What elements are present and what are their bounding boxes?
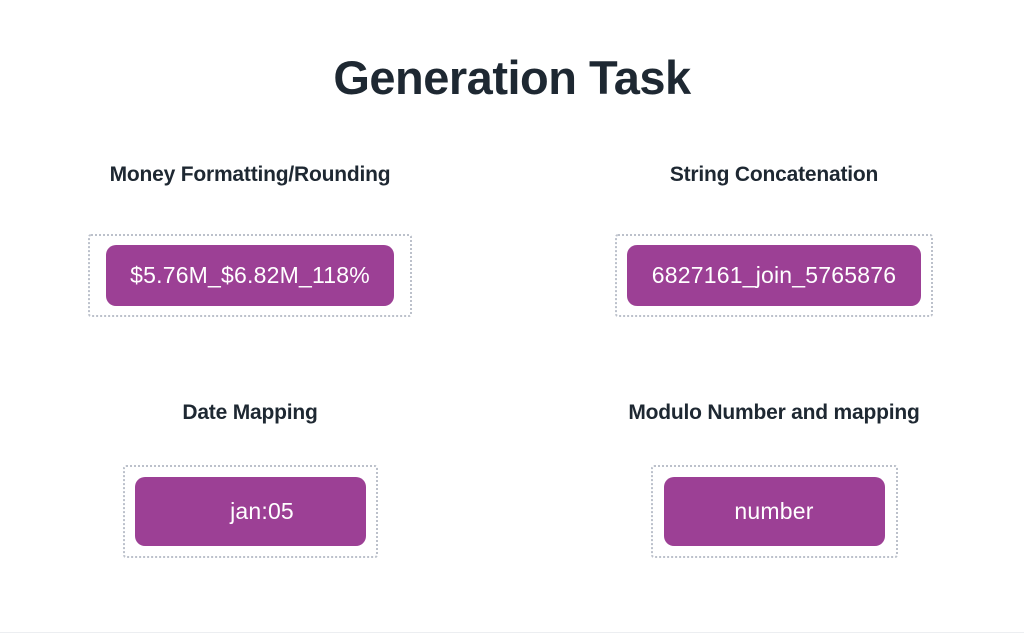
task-dropzone[interactable]: number xyxy=(651,465,898,558)
task-title: Date Mapping xyxy=(0,400,500,425)
task-title: Modulo Number and mapping xyxy=(524,400,1024,425)
task-title: String Concatenation xyxy=(524,162,1024,187)
task-dropzone[interactable]: 6827161_join_5765876 xyxy=(615,234,933,317)
task-value-pill[interactable]: number xyxy=(664,477,885,546)
generation-task-page: Generation Task Money Formatting/Roundin… xyxy=(0,0,1024,633)
task-grid: Money Formatting/Rounding $5.76M_$6.82M_… xyxy=(0,162,1024,602)
task-value-pill[interactable]: $5.76M_$6.82M_118% xyxy=(106,245,394,306)
task-card-string-concatenation: String Concatenation 6827161_join_576587… xyxy=(524,162,1024,372)
task-card-modulo-number-and-mapping: Modulo Number and mapping number xyxy=(524,400,1024,610)
task-title: Money Formatting/Rounding xyxy=(0,162,500,187)
page-title: Generation Task xyxy=(0,52,1024,104)
task-value-pill[interactable]: 6827161_join_5765876 xyxy=(627,245,921,306)
task-dropzone[interactable]: $5.76M_$6.82M_118% xyxy=(88,234,412,317)
task-dropzone[interactable]: jan:05 xyxy=(123,465,378,558)
task-card-money-formatting-rounding: Money Formatting/Rounding $5.76M_$6.82M_… xyxy=(0,162,500,372)
task-value-pill[interactable]: jan:05 xyxy=(135,477,366,546)
task-card-date-mapping: Date Mapping jan:05 xyxy=(0,400,500,610)
